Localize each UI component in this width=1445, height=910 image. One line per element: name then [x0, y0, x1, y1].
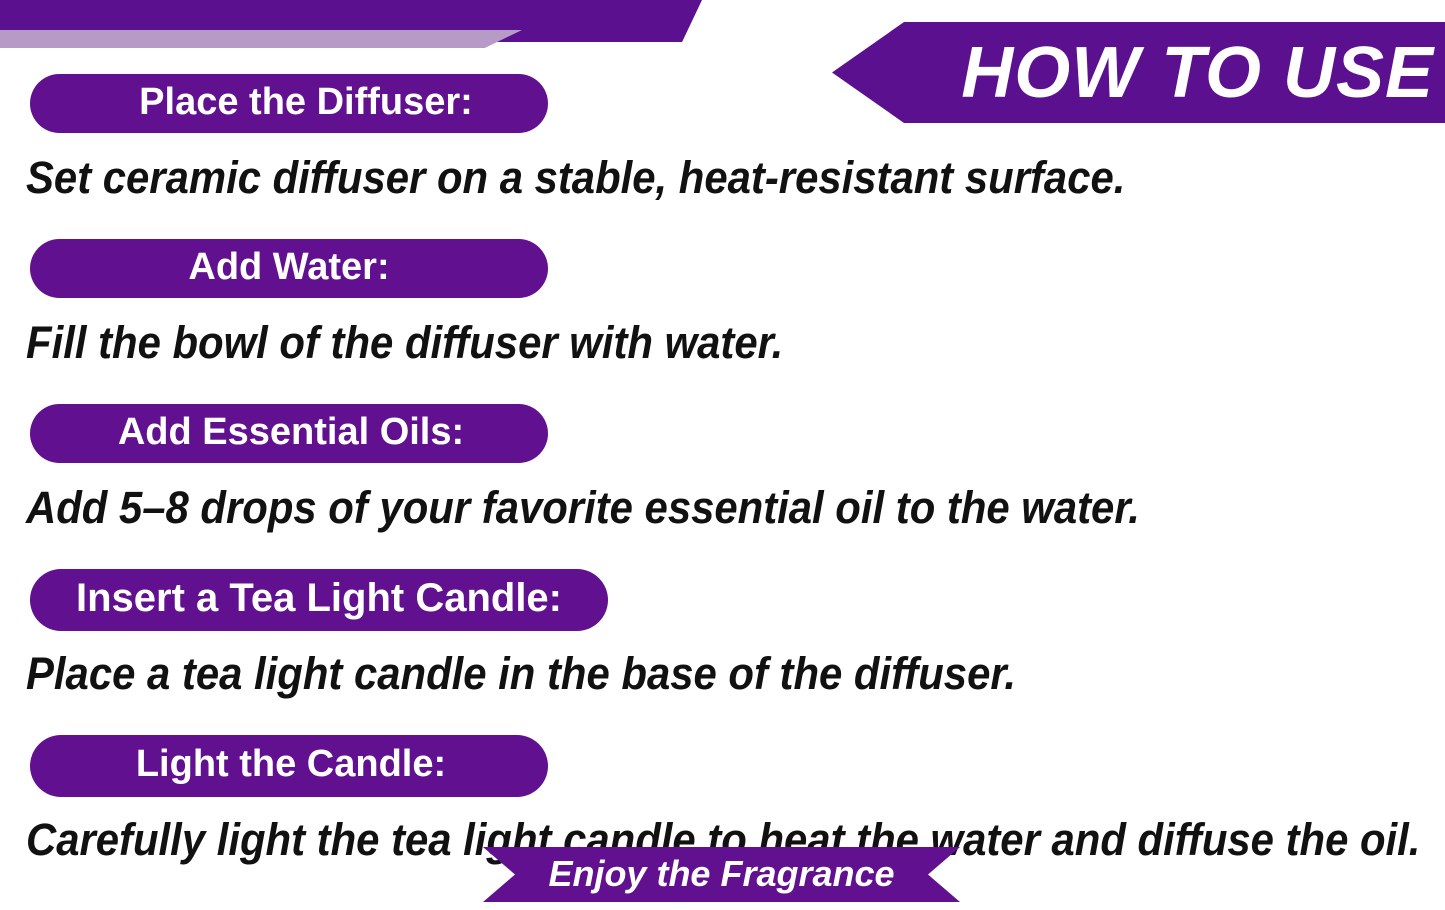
step-body-insert-a-tea-light-candle: Place a tea light candle in the base of …	[26, 651, 1346, 696]
step-pill-add-essential-oils: Add Essential Oils:	[30, 404, 548, 463]
step-label-place-the-diffuser: Place the Diffuser:	[105, 83, 473, 121]
step-pill-insert-a-tea-light-candle: Insert a Tea Light Candle:	[30, 569, 608, 631]
infographic-canvas: HOW TO USE Place the Diffuser: Set ceram…	[0, 0, 1445, 910]
step-label-add-water: Add Water:	[188, 248, 389, 286]
step-body-place-the-diffuser: Set ceramic diffuser on a stable, heat-r…	[26, 155, 1346, 200]
step-pill-light-the-candle: Light the Candle:	[30, 735, 548, 797]
step-label-add-essential-oils: Add Essential Oils:	[114, 413, 464, 451]
step-item-add-essential-oils: Add Essential Oils: Add 5–8 drops of you…	[0, 404, 1445, 530]
step-label-insert-a-tea-light-candle: Insert a Tea Light Candle:	[76, 578, 562, 618]
step-label-light-the-candle: Light the Candle:	[132, 745, 446, 783]
step-item-add-water: Add Water: Fill the bowl of the diffuser…	[0, 239, 1445, 365]
step-item-light-the-candle: Light the Candle: Carefully light the te…	[0, 735, 1445, 862]
ribbon-label: Enjoy the Fragrance	[548, 856, 894, 892]
decorative-bar-light	[0, 30, 522, 48]
step-body-add-water: Fill the bowl of the diffuser with water…	[26, 320, 1346, 365]
step-pill-add-water: Add Water:	[30, 239, 548, 298]
step-item-insert-a-tea-light-candle: Insert a Tea Light Candle: Place a tea l…	[0, 569, 1445, 696]
steps-list: Place the Diffuser: Set ceramic diffuser…	[0, 74, 1445, 862]
enjoy-the-fragrance-ribbon: Enjoy the Fragrance	[483, 847, 960, 902]
step-pill-place-the-diffuser: Place the Diffuser:	[30, 74, 548, 133]
step-body-add-essential-oils: Add 5–8 drops of your favorite essential…	[26, 485, 1346, 530]
step-item-place-the-diffuser: Place the Diffuser: Set ceramic diffuser…	[0, 74, 1445, 200]
